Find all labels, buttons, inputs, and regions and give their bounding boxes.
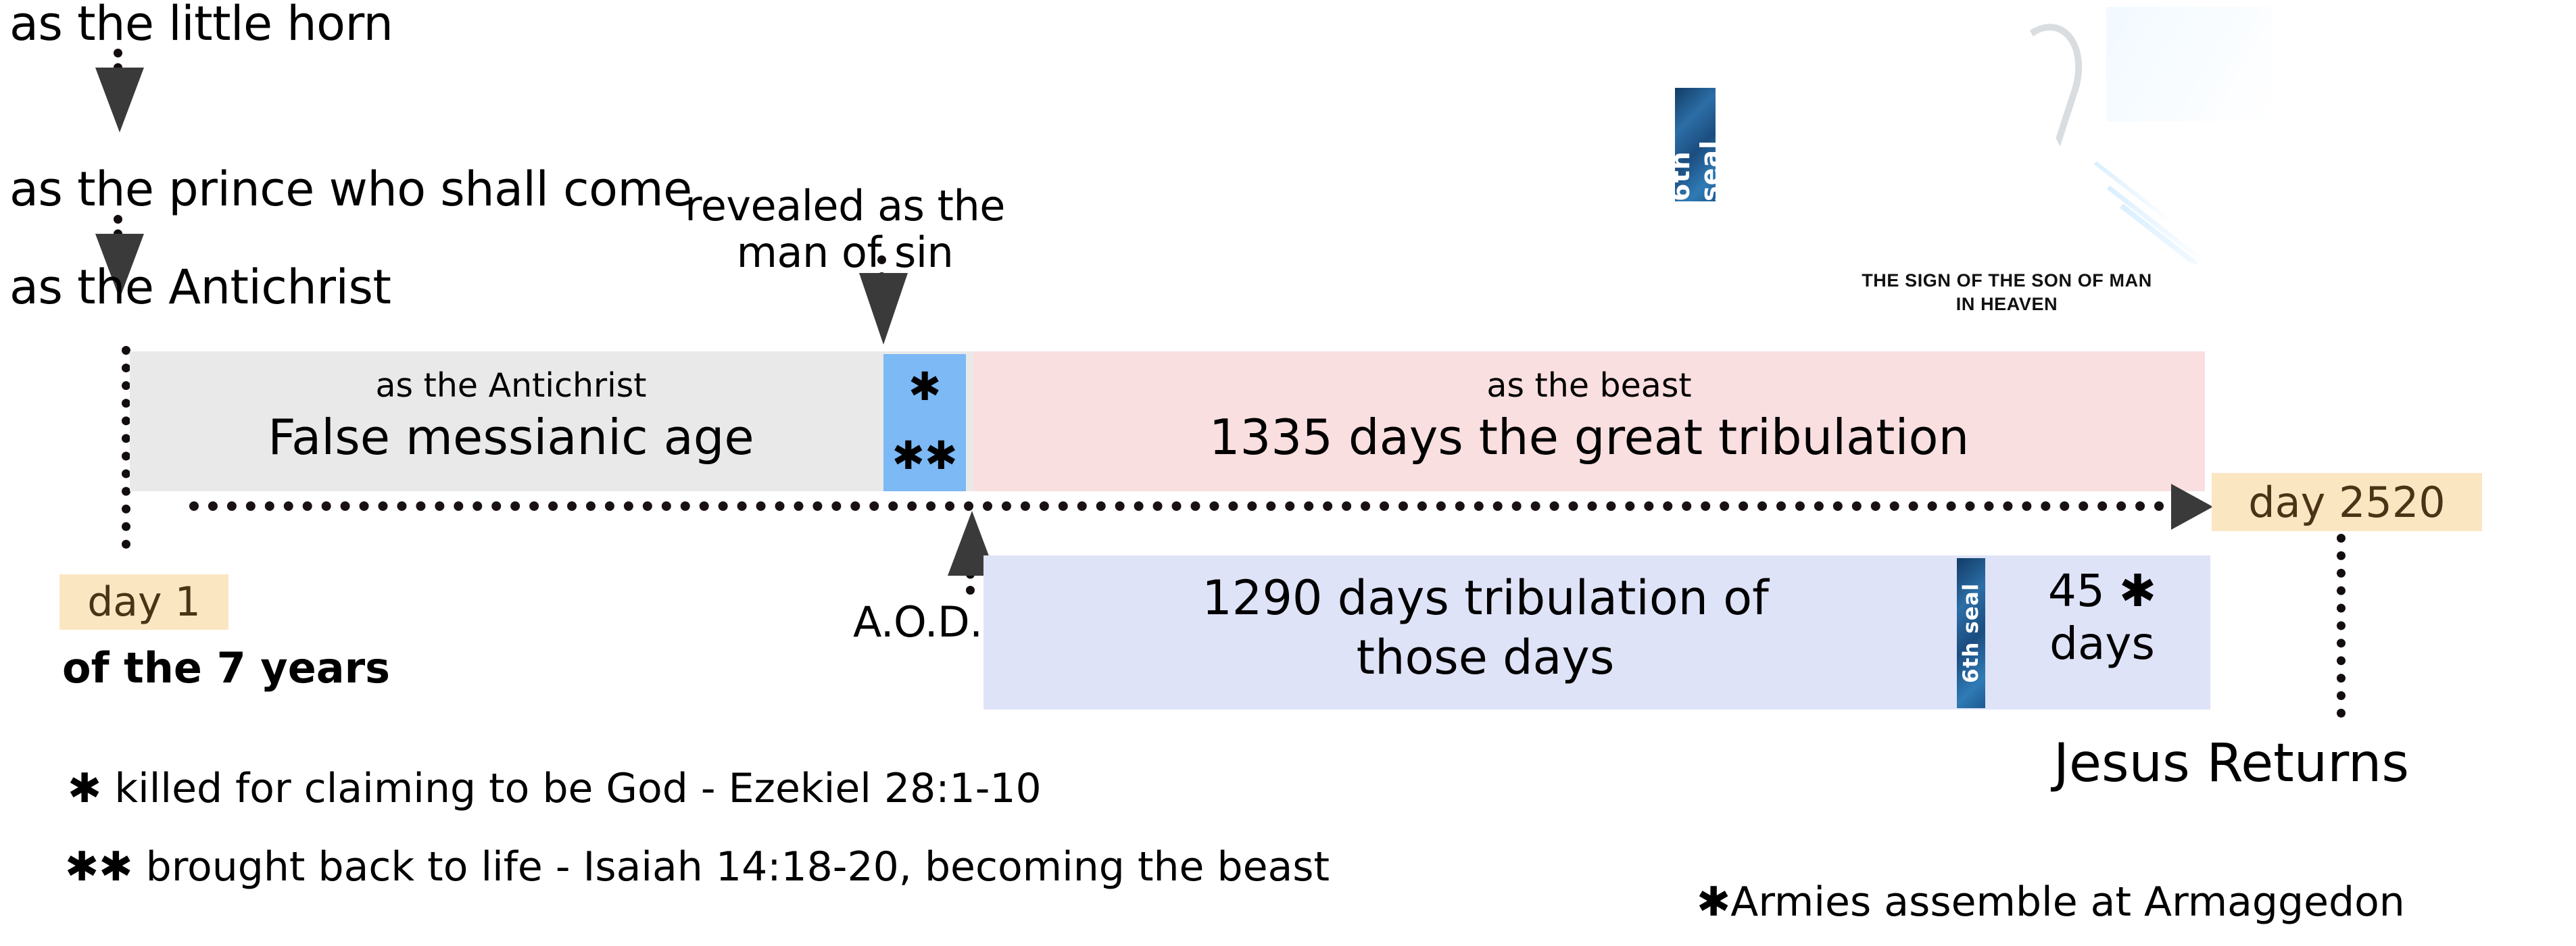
bar-grey-title: False messianic age — [130, 405, 973, 466]
revealed-annotation: revealed as the man of sin — [666, 182, 1024, 276]
day-2520-chip: day 2520 — [2212, 473, 2482, 531]
note-mark-double: ✱✱ — [883, 409, 966, 478]
sign-hook-icon — [1985, 13, 2095, 147]
seal-label-timeline-text: 6th seal — [1959, 583, 1983, 683]
cascade-text-2: as the Antichrist — [9, 259, 391, 315]
picture-caption-line-2: IN HEAVEN — [1730, 293, 2283, 316]
footnote-3: ✱Armies assemble at Armaggedon — [1697, 878, 2405, 926]
jesus-returns-text: Jesus Returns — [2053, 733, 2409, 794]
day-1-subtitle: of the 7 years — [62, 643, 390, 693]
arrow-down-icon-revealed — [859, 273, 908, 345]
cascade-label-little-horn: as the little horn — [9, 0, 393, 47]
bar-false-messianic-age: as the Antichrist False messianic age — [130, 351, 973, 491]
cascade-label-antichrist: as the Antichrist — [9, 264, 391, 311]
sign-of-son-of-man-figure: THE SIGN OF THE SON OF MAN IN HEAVEN — [1730, 1, 2283, 316]
footnote-1: ✱ killed for claiming to be God - Ezekie… — [68, 765, 1042, 812]
jesus-returns-label: Jesus Returns — [2053, 733, 2409, 794]
tail-45-days-line-1: 45 ✱ — [2001, 565, 2204, 618]
revealed-line-1: revealed as the — [666, 182, 1024, 229]
note-mark-single: ✱ — [883, 354, 966, 409]
cascade-text-1: as the prince who shall come — [9, 161, 692, 217]
picture-caption-line-1: THE SIGN OF THE SON OF MAN — [1730, 269, 2283, 293]
footnote-3-text: ✱Armies assemble at Armaggedon — [1697, 878, 2405, 926]
picture-caption: THE SIGN OF THE SON OF MAN IN HEAVEN — [1730, 269, 2283, 316]
footnote-1-text: ✱ killed for claiming to be God - Ezekie… — [68, 765, 1042, 812]
bar-grey-subtitle: as the Antichrist — [130, 351, 973, 405]
main-timeline-dotted-line — [189, 501, 2202, 511]
cascade-text-0: as the little horn — [9, 0, 393, 51]
tail-45-days-line-2: days — [2001, 618, 2204, 670]
heaven-image — [1730, 1, 2283, 264]
bar-pink-subtitle: as the beast — [973, 351, 2205, 405]
revealed-line-2: man of sin — [666, 229, 1024, 276]
day-1-chip-text: day 1 — [87, 578, 201, 626]
note-box-killed-resurrected: ✱ ✱✱ — [883, 354, 966, 491]
footnote-2: ✱✱ brought back to life - Isaiah 14:18-2… — [65, 843, 1330, 891]
bar-great-tribulation: as the beast 1335 days the great tribula… — [973, 351, 2205, 491]
day-1-subtitle-text: of the 7 years — [62, 643, 390, 693]
day-2520-chip-text: day 2520 — [2248, 478, 2446, 527]
seal-label-timeline: 6th seal — [1957, 558, 1985, 708]
jesus-returns-marker-line — [2337, 534, 2346, 718]
seal-label-picture: 6th seal — [1675, 88, 1716, 201]
cascade-label-prince: as the prince who shall come — [9, 166, 692, 213]
seal-label-picture-text: 6th seal — [1666, 88, 1725, 201]
footnote-2-text: ✱✱ brought back to life - Isaiah 14:18-2… — [65, 843, 1330, 891]
arrow-down-icon-1 — [95, 68, 144, 132]
tail-45-days: 45 ✱ days — [2001, 565, 2204, 670]
day-1-chip: day 1 — [59, 574, 228, 630]
bar-pink-title: 1335 days the great tribulation — [973, 405, 2205, 466]
timeline-arrow-right-icon — [2171, 484, 2213, 530]
